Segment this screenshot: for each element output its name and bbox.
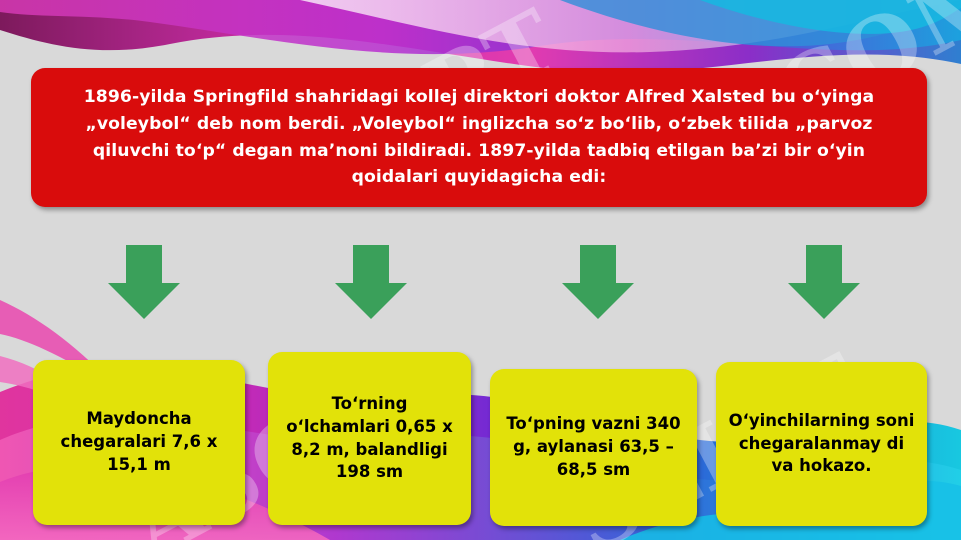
rule-box: O‘yinchilarning soni chegaralanmay di va… [716, 362, 927, 526]
rule-box-text: O‘yinchilarning soni chegaralanmay di va… [726, 410, 917, 478]
rule-box: To‘pning vazni 340 g, aylanasi 63,5 – 68… [490, 369, 697, 526]
down-arrow-icon [558, 243, 638, 321]
intro-banner-text: 1896-yilda Springfild shahridagi kollej … [53, 84, 905, 191]
rule-box-text: Maydoncha chegaralari 7,6 x 15,1 m [43, 408, 235, 476]
rule-box-text: To‘rning o‘lchamlari 0,65 x 8,2 m, balan… [278, 393, 461, 484]
down-arrow-icon [331, 243, 411, 321]
slide: ASOP PPT SLIDE COM 1896-yilda Springfild… [0, 0, 961, 540]
rule-box: To‘rning o‘lchamlari 0,65 x 8,2 m, balan… [268, 352, 471, 525]
intro-banner: 1896-yilda Springfild shahridagi kollej … [31, 68, 927, 207]
down-arrow-icon [784, 243, 864, 321]
rule-box: Maydoncha chegaralari 7,6 x 15,1 m [33, 360, 245, 525]
down-arrow-icon [104, 243, 184, 321]
rule-box-text: To‘pning vazni 340 g, aylanasi 63,5 – 68… [500, 413, 687, 481]
